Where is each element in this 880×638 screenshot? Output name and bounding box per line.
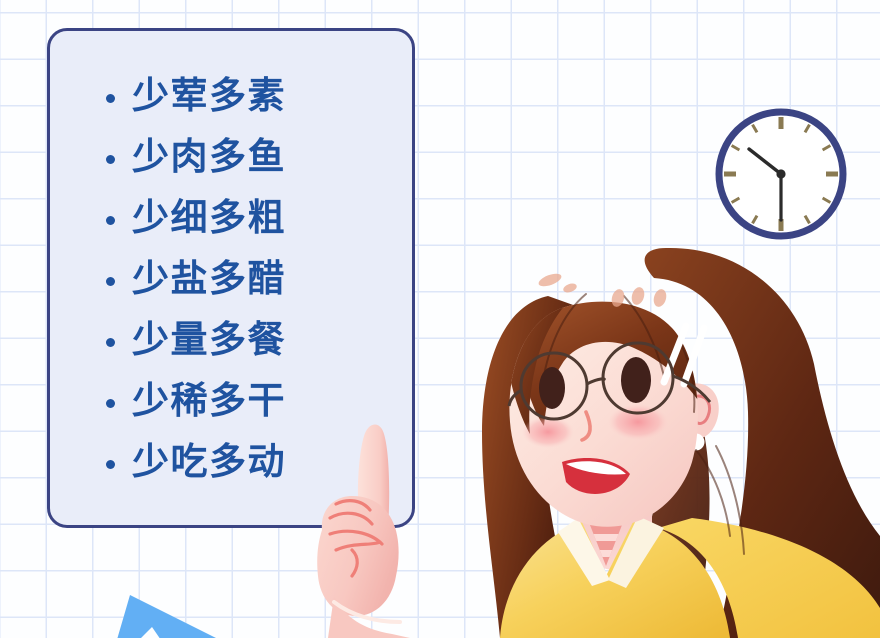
list-item: 少荤多素 (50, 65, 412, 126)
screenshot-canvas: 少荤多素 少肉多鱼 少细多粗 少盐多醋 少量多餐 少稀多干 (0, 0, 880, 638)
tip-label: 少荤多素 (132, 77, 286, 114)
tip-label: 少稀多干 (132, 382, 286, 419)
bullet-icon (106, 155, 115, 164)
blush-left (522, 416, 574, 448)
bullet-icon (106, 94, 115, 103)
eye-left (539, 367, 565, 409)
tip-label: 少细多粗 (132, 199, 286, 236)
tip-label: 少肉多鱼 (132, 138, 286, 175)
list-item: 少肉多鱼 (50, 126, 412, 187)
bullet-icon (106, 338, 115, 347)
bullet-icon (106, 216, 115, 225)
eye-right (621, 357, 651, 403)
tip-label: 少盐多醋 (132, 260, 286, 297)
tip-label: 少量多餐 (132, 321, 286, 358)
wall-clock-icon (714, 107, 848, 241)
bullet-icon (106, 460, 115, 469)
blush-right (608, 404, 668, 440)
bullet-icon (106, 399, 115, 408)
tip-label: 少吃多动 (132, 443, 286, 480)
bullet-icon (106, 277, 115, 286)
pointing-hand (300, 400, 480, 638)
blue-arrow-icon (108, 583, 238, 638)
